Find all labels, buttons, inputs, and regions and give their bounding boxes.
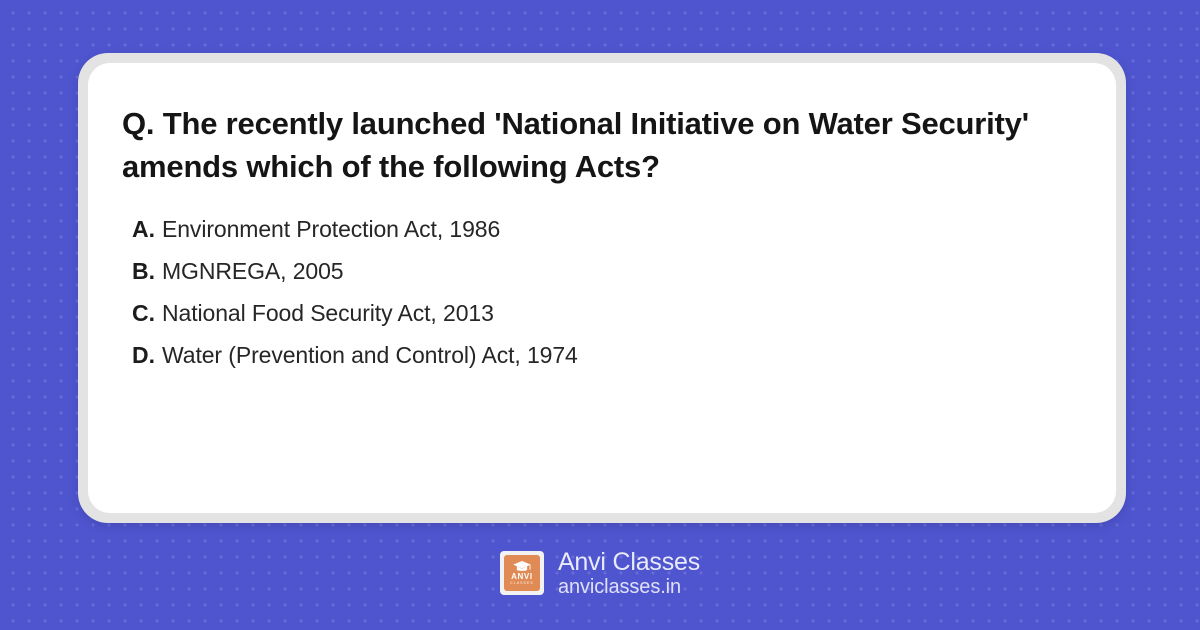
option-text-c: National Food Security Act, 2013 xyxy=(162,300,494,327)
option-row-b[interactable]: B. MGNREGA, 2005 xyxy=(122,258,1082,285)
option-row-d[interactable]: D. Water (Prevention and Control) Act, 1… xyxy=(122,342,1082,369)
brand-logo-subtext: CLASSES xyxy=(510,582,534,586)
option-row-c[interactable]: C. National Food Security Act, 2013 xyxy=(122,300,1082,327)
brand-footer: ANVI CLASSES Anvi Classes anviclasses.in xyxy=(0,548,1200,598)
option-row-a[interactable]: A. Environment Protection Act, 1986 xyxy=(122,216,1082,243)
option-letter-a: A. xyxy=(132,216,162,243)
graduation-cap-icon xyxy=(513,561,531,572)
option-letter-c: C. xyxy=(132,300,162,327)
brand-logo-word: ANVI xyxy=(511,573,533,581)
option-text-a: Environment Protection Act, 1986 xyxy=(162,216,500,243)
brand-url[interactable]: anviclasses.in xyxy=(558,576,700,598)
option-text-b: MGNREGA, 2005 xyxy=(162,258,344,285)
question-text: Q. The recently launched 'National Initi… xyxy=(122,103,1042,189)
options-list: A. Environment Protection Act, 1986 B. M… xyxy=(122,216,1082,369)
brand-logo: ANVI CLASSES xyxy=(500,551,544,595)
question-card-frame: Q. The recently launched 'National Initi… xyxy=(78,53,1126,523)
brand-name: Anvi Classes xyxy=(558,548,700,576)
option-letter-d: D. xyxy=(132,342,162,369)
question-card: Q. The recently launched 'National Initi… xyxy=(88,63,1116,513)
option-text-d: Water (Prevention and Control) Act, 1974 xyxy=(162,342,578,369)
brand-text-block: Anvi Classes anviclasses.in xyxy=(558,548,700,598)
option-letter-b: B. xyxy=(132,258,162,285)
brand-logo-tile: ANVI CLASSES xyxy=(504,555,540,591)
